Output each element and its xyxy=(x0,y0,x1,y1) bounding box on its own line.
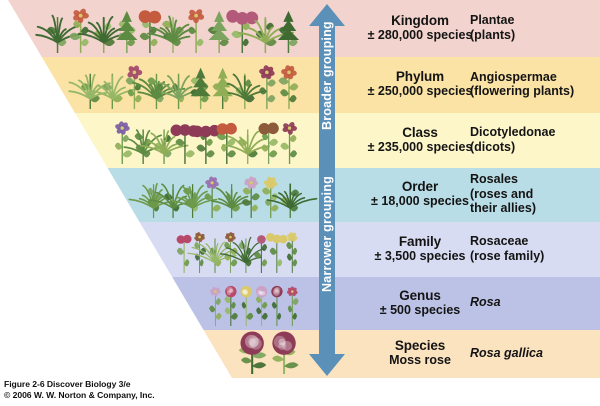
taxon-line-order-1: (roses and xyxy=(470,187,598,202)
rank-block-phylum: Phylum± 250,000 species xyxy=(352,69,488,99)
rank-name-class: Class xyxy=(352,125,488,140)
taxonomy-hierarchy-figure: Kingdom± 280,000 speciesPlantae(plants)P… xyxy=(0,0,600,406)
taxon-block-family: Rosaceae(rose family) xyxy=(470,234,598,263)
rank-name-species: Species xyxy=(352,338,488,353)
arrow-label-narrower: Narrower grouping xyxy=(320,250,334,292)
rank-name-family: Family xyxy=(352,234,488,249)
rank-count-phylum: ± 250,000 species xyxy=(352,84,488,99)
taxon-line-phylum-0: Angiospermae xyxy=(470,70,598,85)
rank-block-order: Order± 18,000 species xyxy=(352,179,488,209)
rank-count-species: Moss rose xyxy=(352,353,488,368)
rank-count-order: ± 18,000 species xyxy=(352,194,488,209)
taxon-block-phylum: Angiospermae(flowering plants) xyxy=(470,70,598,99)
grouping-direction-arrow: Broader grouping Narrower grouping xyxy=(306,2,348,378)
taxon-line-class-0: Dicotyledonae xyxy=(470,125,598,140)
rank-name-phylum: Phylum xyxy=(352,69,488,84)
rank-block-genus: Genus± 500 species xyxy=(352,288,488,318)
rank-block-kingdom: Kingdom± 280,000 species xyxy=(352,13,488,43)
taxon-line-class-1: (dicots) xyxy=(470,140,598,155)
taxon-line-family-1: (rose family) xyxy=(470,249,598,264)
taxon-block-species: Rosa gallica xyxy=(470,346,598,361)
taxon-line-order-2: their allies) xyxy=(470,201,598,216)
caption-line-title: Figure 2-6 Discover Biology 3/e xyxy=(4,379,155,390)
taxon-block-order: Rosales(roses andtheir allies) xyxy=(470,172,598,216)
rank-count-family: ± 3,500 species xyxy=(352,249,488,264)
taxon-line-order-0: Rosales xyxy=(470,172,598,187)
rank-name-kingdom: Kingdom xyxy=(352,13,488,28)
rank-count-class: ± 235,000 species xyxy=(352,140,488,155)
taxon-line-kingdom-1: (plants) xyxy=(470,28,598,43)
rank-count-kingdom: ± 280,000 species xyxy=(352,28,488,43)
rank-name-genus: Genus xyxy=(352,288,488,303)
taxon-block-kingdom: Plantae(plants) xyxy=(470,13,598,42)
taxon-line-species-0: Rosa gallica xyxy=(470,346,598,361)
taxon-line-genus-0: Rosa xyxy=(470,295,598,310)
taxon-line-phylum-1: (flowering plants) xyxy=(470,84,598,99)
taxon-block-class: Dicotyledonae(dicots) xyxy=(470,125,598,154)
rank-block-species: SpeciesMoss rose xyxy=(352,338,488,368)
caption-line-copyright: © 2006 W. W. Norton & Company, Inc. xyxy=(4,390,155,401)
rank-block-class: Class± 235,000 species xyxy=(352,125,488,155)
rank-block-family: Family± 3,500 species xyxy=(352,234,488,264)
rank-name-order: Order xyxy=(352,179,488,194)
rank-count-genus: ± 500 species xyxy=(352,303,488,318)
taxon-line-kingdom-0: Plantae xyxy=(470,13,598,28)
taxon-block-genus: Rosa xyxy=(470,295,598,310)
arrow-label-broader: Broader grouping xyxy=(320,88,334,130)
figure-caption: Figure 2-6 Discover Biology 3/e © 2006 W… xyxy=(4,379,155,401)
taxon-line-family-0: Rosaceae xyxy=(470,234,598,249)
